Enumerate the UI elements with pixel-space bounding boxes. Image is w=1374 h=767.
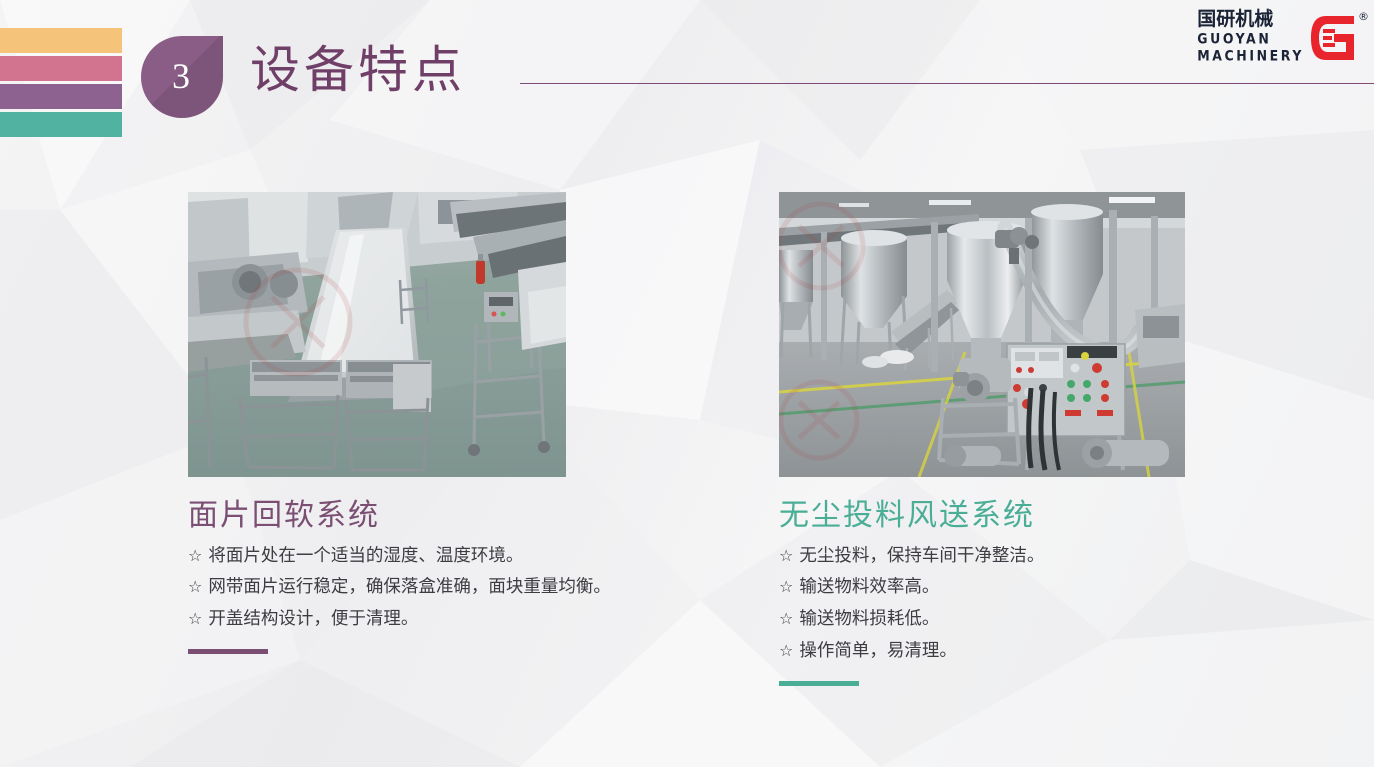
bar-orange bbox=[0, 28, 122, 53]
company-logo: 国研机械 GUOYAN MACHINERY ® bbox=[1197, 10, 1356, 65]
accent-color-bars bbox=[0, 28, 122, 137]
logo-chinese-name: 国研机械 bbox=[1197, 10, 1273, 29]
bullet-text: 输送物料效率高。 bbox=[799, 576, 939, 596]
slide-root: 3 设备特点 国研机械 GUOYAN MACHINERY ® bbox=[0, 0, 1374, 767]
section-number-badge: 3 bbox=[141, 36, 223, 118]
bullet-text: 开盖结构设计，便于清理。 bbox=[208, 608, 418, 628]
star-icon: ☆ bbox=[188, 572, 202, 601]
logo-wordmark: 国研机械 GUOYAN MACHINERY bbox=[1197, 10, 1304, 65]
feature-panel-left: 面片回软系统 ☆将面片处在一个适当的湿度、温度环境。 ☆网带面片运行稳定，确保落… bbox=[188, 192, 566, 654]
page-title: 设备特点 bbox=[250, 45, 466, 95]
list-item: ☆开盖结构设计，便于清理。 bbox=[188, 603, 566, 635]
bullet-text: 操作简单，易清理。 bbox=[799, 640, 957, 660]
feature-panel-right: 无尘投料风送系统 ☆无尘投料，保持车间干净整洁。 ☆输送物料效率高。 ☆输送物料… bbox=[779, 192, 1185, 686]
list-item: ☆将面片处在一个适当的湿度、温度环境。 bbox=[188, 540, 566, 572]
list-item: ☆无尘投料，保持车间干净整洁。 bbox=[779, 540, 1185, 572]
photo-dustfree-feeding-image bbox=[779, 192, 1185, 477]
logo-mark-icon: ® bbox=[1310, 12, 1356, 64]
guoyan-g-icon bbox=[1310, 12, 1356, 64]
bar-pink bbox=[0, 56, 122, 81]
star-icon: ☆ bbox=[188, 541, 202, 570]
bullet-text: 无尘投料，保持车间干净整洁。 bbox=[799, 545, 1044, 565]
bullet-text: 网带面片运行稳定，确保落盒准确，面块重量均衡。 bbox=[208, 576, 611, 596]
photo-noodle-sheet-softening bbox=[188, 192, 566, 477]
star-icon: ☆ bbox=[188, 604, 202, 633]
logo-english-line1: GUOYAN bbox=[1197, 32, 1271, 46]
panel-right-heading: 无尘投料风送系统 bbox=[779, 499, 1185, 534]
bullet-text: 输送物料损耗低。 bbox=[799, 608, 939, 628]
photo-dustfree-feeding bbox=[779, 192, 1185, 477]
panel-left-bullet-list: ☆将面片处在一个适当的湿度、温度环境。 ☆网带面片运行稳定，确保落盒准确，面块重… bbox=[188, 540, 566, 636]
panel-right-bullet-list: ☆无尘投料，保持车间干净整洁。 ☆输送物料效率高。 ☆输送物料损耗低。 ☆操作简… bbox=[779, 540, 1185, 667]
list-item: ☆操作简单，易清理。 bbox=[779, 635, 1185, 667]
bar-teal bbox=[0, 112, 122, 137]
star-icon: ☆ bbox=[779, 572, 793, 601]
bullet-text: 将面片处在一个适当的湿度、温度环境。 bbox=[208, 545, 523, 565]
photo-noodle-sheet-softening-image bbox=[188, 192, 566, 477]
star-icon: ☆ bbox=[779, 604, 793, 633]
title-divider-rule bbox=[520, 83, 1374, 84]
list-item: ☆输送物料损耗低。 bbox=[779, 603, 1185, 635]
registered-trademark-icon: ® bbox=[1358, 10, 1369, 23]
panel-left-heading: 面片回软系统 bbox=[188, 499, 566, 534]
panel-left-underline bbox=[188, 649, 268, 654]
star-icon: ☆ bbox=[779, 636, 793, 665]
star-icon: ☆ bbox=[779, 541, 793, 570]
section-number: 3 bbox=[141, 36, 223, 118]
panel-right-underline bbox=[779, 681, 859, 686]
list-item: ☆网带面片运行稳定，确保落盒准确，面块重量均衡。 bbox=[188, 571, 566, 603]
logo-english-line2: MACHINERY bbox=[1197, 49, 1304, 63]
bar-purple bbox=[0, 84, 122, 109]
list-item: ☆输送物料效率高。 bbox=[779, 571, 1185, 603]
